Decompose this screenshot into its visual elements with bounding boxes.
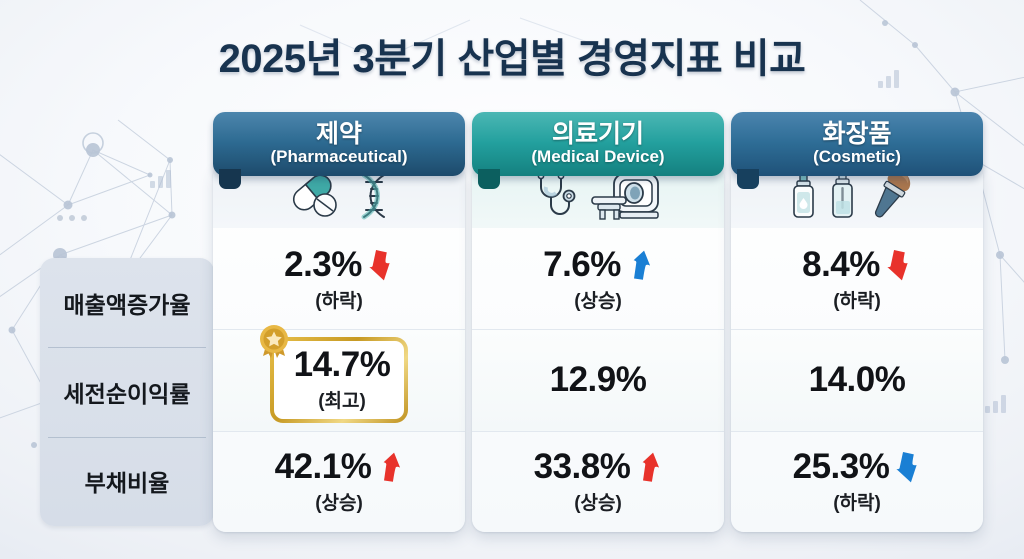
metric-sub-label: (하락)	[833, 488, 881, 515]
column-header-medical-device[interactable]: 의료기기 (Medical Device)	[472, 112, 724, 176]
row-label-column: 매출액증가율 세전순이익률 부채비율	[40, 258, 214, 526]
metric-sub-label: (상승)	[574, 286, 622, 313]
title-area: 2025년 3분기 산업별 경영지표 비교	[0, 26, 1024, 84]
best-value-highlight: 14.7% (최고)	[270, 337, 409, 423]
value-line: 14.0%	[809, 360, 906, 400]
metric-value: 7.6%	[543, 245, 621, 285]
metric-sub-label: (하락)	[833, 286, 881, 313]
makeup-brush-icon	[867, 170, 925, 222]
pill-capsule-icon	[284, 173, 344, 219]
column-header-name-kr: 제약	[316, 121, 362, 147]
cell-medical-device-pretax-net-profit-margin: 12.9%	[472, 329, 724, 430]
cell-medical-device-revenue-growth-rate: 7.6% (상승)	[472, 228, 724, 329]
column-header-cosmetic[interactable]: 화장품 (Cosmetic)	[731, 112, 983, 176]
trend-down-arrow-icon	[891, 450, 921, 484]
column-header-name-en: (Cosmetic)	[813, 147, 901, 167]
page-title: 2025년 3분기 산업별 경영지표 비교	[219, 26, 806, 84]
dropper-bottle-icon	[829, 171, 857, 221]
column-header-name-en: (Pharmaceutical)	[271, 147, 408, 167]
row-label-revenue-growth-rate: 매출액증가율	[40, 258, 214, 347]
column-header-name-kr: 의료기기	[552, 121, 644, 147]
cell-cosmetic-pretax-net-profit-margin: 14.0%	[731, 329, 983, 430]
value-line: 12.9%	[550, 360, 647, 400]
card-cosmetic: 8.4% (하락) 14.0% 25.3%	[731, 164, 983, 532]
metric-value: 25.3%	[793, 447, 890, 487]
row-label-debt-ratio: 부채비율	[40, 437, 214, 526]
metric-value: 14.7%	[294, 345, 391, 385]
metric-value: 42.1%	[275, 447, 372, 487]
dna-helix-icon	[354, 172, 394, 220]
value-line: 42.1%	[275, 447, 404, 487]
column-header-pharmaceutical[interactable]: 제약 (Pharmaceutical)	[213, 112, 465, 176]
column-header-name-kr: 화장품	[822, 121, 891, 147]
cell-pharmaceutical-pretax-net-profit-margin: 14.7% (최고)	[213, 329, 465, 430]
trend-up-arrow-icon	[623, 248, 653, 282]
cell-pharmaceutical-revenue-growth-rate: 2.3% (하락)	[213, 228, 465, 329]
metric-value: 2.3%	[284, 245, 362, 285]
value-line: 8.4%	[802, 245, 912, 285]
trend-down-arrow-icon	[364, 248, 394, 282]
value-line: 2.3%	[284, 245, 394, 285]
column-pharmaceutical: 제약 (Pharmaceutical)	[213, 112, 465, 176]
metric-value: 12.9%	[550, 360, 647, 400]
stethoscope-icon	[532, 171, 580, 221]
column-medical-device: 의료기기 (Medical Device)	[472, 112, 724, 176]
cell-cosmetic-debt-ratio: 25.3% (하락)	[731, 431, 983, 532]
cell-pharmaceutical-debt-ratio: 42.1% (상승)	[213, 431, 465, 532]
mri-scanner-icon	[590, 170, 664, 222]
gold-medal-star-icon	[255, 322, 293, 360]
metric-value: 14.0%	[809, 360, 906, 400]
card-pharmaceutical: 2.3% (하락) 14.7% (	[213, 164, 465, 532]
serum-dropper-bottle-icon	[789, 171, 819, 221]
metric-value: 33.8%	[534, 447, 631, 487]
value-line: 25.3%	[793, 447, 922, 487]
trend-up-arrow-icon	[373, 450, 403, 484]
metric-value: 8.4%	[802, 245, 880, 285]
row-label-pretax-net-profit-margin: 세전순이익률	[40, 347, 214, 436]
card-medical-device: 7.6% (상승) 12.9% 33.8%	[472, 164, 724, 532]
metric-sub-label: (상승)	[315, 488, 363, 515]
cell-medical-device-debt-ratio: 33.8% (상승)	[472, 431, 724, 532]
trend-down-arrow-icon	[882, 248, 912, 282]
column-cosmetic: 화장품 (Cosmetic)	[731, 112, 983, 176]
metric-sub-label: (하락)	[315, 286, 363, 313]
value-line: 7.6%	[543, 245, 653, 285]
metric-sub-label: (상승)	[574, 488, 622, 515]
column-header-name-en: (Medical Device)	[531, 147, 664, 167]
cell-cosmetic-revenue-growth-rate: 8.4% (하락)	[731, 228, 983, 329]
trend-up-arrow-icon	[632, 450, 662, 484]
metric-sub-label: (최고)	[318, 386, 366, 413]
value-line: 33.8%	[534, 447, 663, 487]
comparison-table: 매출액증가율 세전순이익률 부채비율 제약 (Pharmaceutical)	[40, 112, 992, 532]
